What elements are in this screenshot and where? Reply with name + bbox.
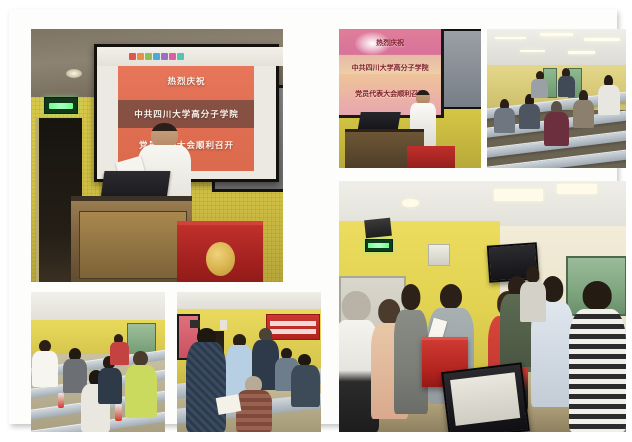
audience-body (494, 108, 515, 133)
water-bottle (115, 404, 122, 421)
collage-frame: 热烈庆祝 中共四川大学高分子学院 党员代表大会顺利召开 (9, 9, 617, 424)
audience-body (573, 100, 594, 128)
attendee-body (520, 282, 546, 322)
delegate-body (110, 342, 129, 364)
water-bottle (58, 393, 65, 408)
speaker-head (151, 123, 178, 149)
attendee-body (291, 365, 320, 407)
slide-line-2: 中共四川大学高分子学院 (339, 63, 441, 73)
delegate-body (98, 368, 122, 404)
attendee-head (583, 281, 612, 310)
attendee-head (526, 266, 539, 283)
photo-speaker-lectern[interactable]: 热烈庆祝 中共四川大学高分子学院 党员代表大会顺利召开 (339, 29, 481, 168)
attendee-head (401, 284, 420, 310)
photo-ballot-voting-content (339, 181, 626, 432)
photo-delegates-row-content (31, 292, 165, 432)
delegate-body (32, 351, 57, 387)
collage-canvas: 热烈庆祝 中共四川大学高分子学院 党员代表大会顺利召开 (0, 0, 632, 442)
wall-speaker-icon (190, 320, 200, 328)
attendee-head (342, 291, 370, 321)
exit-sign-icon (365, 239, 393, 252)
wall-speaker-icon (428, 244, 450, 266)
audience-body (558, 76, 575, 97)
audience-body (598, 85, 620, 116)
attendee-body (569, 309, 626, 432)
audience-body (544, 112, 569, 145)
photo-discussion-group[interactable] (177, 292, 321, 432)
wooden-podium (71, 196, 192, 282)
photo-speaker-podium[interactable]: 热烈庆祝 中共四川大学高分子学院 党员代表大会顺利召开 (31, 29, 283, 282)
voter-head (440, 284, 462, 309)
wall-speaker-icon (220, 320, 227, 330)
photo-audience-seated-content (487, 29, 626, 168)
delegate-head (133, 351, 148, 366)
wall-speaker-icon (364, 217, 392, 237)
ceiling (487, 29, 626, 65)
red-emblem-box (177, 221, 263, 282)
photo-ballot-voting[interactable] (339, 181, 626, 432)
photo-speaker-podium-content: 热烈庆祝 中共四川大学高分子学院 党员代表大会顺利召开 (31, 29, 283, 282)
red-table-skirt (407, 146, 455, 168)
photo-speaker-lectern-content: 热烈庆祝 中共四川大学高分子学院 党员代表大会顺利召开 (339, 29, 481, 168)
slide-line-1: 热烈庆祝 (118, 75, 254, 87)
delegate-body (125, 365, 157, 418)
photo-delegates-row[interactable] (31, 292, 165, 432)
audience-body (519, 104, 540, 129)
photo-audience-seated[interactable] (487, 29, 626, 168)
attendee-body (236, 390, 272, 432)
slide-line-2: 中共四川大学高分子学院 (118, 108, 254, 120)
attendee-body (186, 342, 226, 432)
audience-body (531, 79, 548, 98)
led-banner (266, 314, 320, 340)
slide-toolbar (97, 47, 283, 65)
slide-line-1: 热烈庆祝 (339, 38, 441, 48)
attendee-person (569, 281, 626, 432)
attendee-person (520, 266, 546, 321)
exit-sign-icon (44, 97, 79, 114)
photo-discussion-group-content (177, 292, 321, 432)
voting-terminal-monitor (441, 362, 530, 432)
document-paper (216, 394, 242, 415)
secondary-display (441, 29, 481, 109)
